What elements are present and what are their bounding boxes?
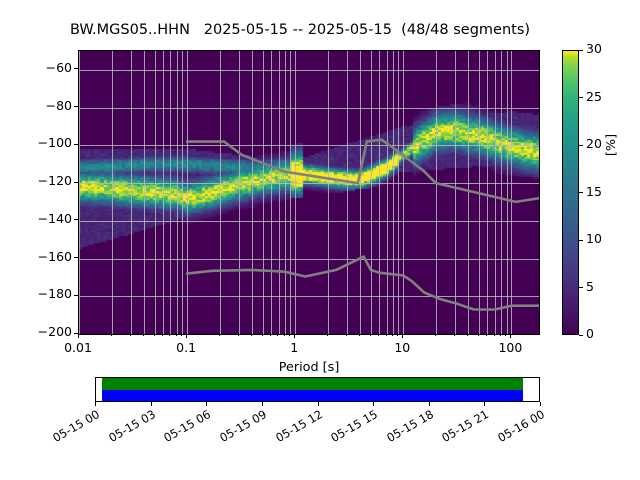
y-axis-tick bbox=[74, 106, 78, 107]
x-axis-minor-tick bbox=[486, 333, 487, 336]
x-axis-minor-tick bbox=[176, 333, 177, 336]
x-axis-minor-tick bbox=[370, 333, 371, 336]
x-axis-minor-tick bbox=[494, 333, 495, 336]
colorbar-tick-label: 5 bbox=[586, 281, 594, 293]
x-axis-minor-tick bbox=[130, 333, 131, 336]
x-axis-minor-tick bbox=[327, 333, 328, 336]
timeline-tick bbox=[318, 402, 319, 406]
x-axis-minor-tick bbox=[169, 333, 170, 336]
x-axis-minor-tick bbox=[454, 333, 455, 336]
page-title: BW.MGS05..HHN 2025-05-15 -- 2025-05-15 (… bbox=[0, 22, 600, 38]
x-axis-minor-tick bbox=[251, 333, 252, 336]
timeline-tick-label: 05-15 09 bbox=[208, 407, 269, 450]
y-axis-tick bbox=[74, 219, 78, 220]
x-axis-minor-tick bbox=[392, 333, 393, 336]
x-axis-minor-tick bbox=[386, 333, 387, 336]
timeline-tick-label: 05-15 21 bbox=[431, 407, 492, 450]
x-axis-minor-tick bbox=[289, 333, 290, 336]
x-axis-tick-label: 10 bbox=[394, 340, 410, 355]
x-axis-tick-label: 0.01 bbox=[64, 340, 92, 355]
x-axis-tick bbox=[402, 333, 403, 338]
x-axis-minor-tick bbox=[219, 333, 220, 336]
colorbar-tick-label: 20 bbox=[586, 138, 602, 150]
x-axis-tick-label: 0.1 bbox=[176, 340, 196, 355]
x-axis-minor-tick bbox=[435, 333, 436, 336]
ppsd-axes bbox=[78, 50, 540, 335]
x-axis-minor-tick bbox=[262, 333, 263, 336]
timeline-tick-label: 05-15 12 bbox=[264, 407, 325, 450]
x-axis-minor-tick bbox=[505, 333, 506, 336]
x-axis-minor-tick bbox=[277, 333, 278, 336]
colorbar-tick-label: 15 bbox=[586, 186, 602, 198]
y-axis-tick-label: −160 bbox=[6, 251, 72, 263]
timeline-tick bbox=[429, 402, 430, 406]
colorbar bbox=[562, 50, 579, 335]
y-axis-tick bbox=[74, 182, 78, 183]
colorbar-tick bbox=[579, 335, 583, 336]
x-axis-tick bbox=[510, 333, 511, 338]
x-axis-label: Period [s] bbox=[78, 360, 540, 375]
x-axis-minor-tick bbox=[346, 333, 347, 336]
x-axis-minor-tick bbox=[270, 333, 271, 336]
x-axis-tick bbox=[294, 333, 295, 338]
timeline-tick-label: 05-15 03 bbox=[97, 407, 158, 450]
x-axis-minor-tick bbox=[143, 333, 144, 336]
x-axis-minor-tick bbox=[154, 333, 155, 336]
x-axis-minor-tick bbox=[378, 333, 379, 336]
coverage-bar-blue bbox=[102, 390, 523, 402]
timeline-tick bbox=[540, 402, 541, 406]
timeline-tick bbox=[484, 402, 485, 406]
x-axis-minor-tick bbox=[467, 333, 468, 336]
y-axis-tick-label: −120 bbox=[6, 175, 72, 187]
colorbar-tick bbox=[579, 50, 583, 51]
nlnm-curve bbox=[187, 257, 539, 310]
colorbar-tick-label: 30 bbox=[586, 43, 602, 55]
timeline-tick bbox=[373, 402, 374, 406]
colorbar-tick bbox=[579, 192, 583, 193]
colorbar-tick bbox=[579, 97, 583, 98]
y-axis-tick bbox=[74, 295, 78, 296]
timeline-tick bbox=[151, 402, 152, 406]
x-axis-minor-tick bbox=[111, 333, 112, 336]
y-axis-tick bbox=[74, 144, 78, 145]
colorbar-tick bbox=[579, 240, 583, 241]
x-axis-tick bbox=[78, 333, 79, 338]
x-axis-tick-label: 1 bbox=[290, 340, 298, 355]
colorbar-label: [%] bbox=[604, 115, 619, 175]
x-axis-minor-tick bbox=[284, 333, 285, 336]
noise-model-curves bbox=[79, 51, 539, 334]
timeline-tick bbox=[206, 402, 207, 406]
colorbar-tick-label: 0 bbox=[586, 328, 594, 340]
y-axis-tick-label: −100 bbox=[6, 137, 72, 149]
timeline-tick-label: 05-15 00 bbox=[41, 407, 102, 450]
colorbar-tick-label: 25 bbox=[586, 91, 602, 103]
timeline-tick-label: 05-15 06 bbox=[153, 407, 214, 450]
x-axis-minor-tick bbox=[162, 333, 163, 336]
x-axis-minor-tick bbox=[500, 333, 501, 336]
x-axis-minor-tick bbox=[238, 333, 239, 336]
x-axis-minor-tick bbox=[359, 333, 360, 336]
coverage-bar-green bbox=[102, 378, 523, 390]
y-axis-tick-label: −180 bbox=[6, 288, 72, 300]
y-axis-tick-label: −60 bbox=[6, 62, 72, 74]
timeline-tick-label: 05-16 00 bbox=[486, 407, 547, 450]
timeline-tick-label: 05-15 18 bbox=[375, 407, 436, 450]
y-axis-tick bbox=[74, 257, 78, 258]
ppsd-figure: BW.MGS05..HHN 2025-05-15 -- 2025-05-15 (… bbox=[0, 0, 640, 480]
x-axis-minor-tick bbox=[397, 333, 398, 336]
colorbar-tick-label: 10 bbox=[586, 233, 602, 245]
y-axis-tick-label: −200 bbox=[6, 326, 72, 338]
coverage-timeline bbox=[95, 377, 540, 402]
colorbar-tick bbox=[579, 145, 583, 146]
y-axis-tick-label: −140 bbox=[6, 213, 72, 225]
y-axis-tick bbox=[74, 68, 78, 69]
timeline-tick bbox=[262, 402, 263, 406]
x-axis-tick bbox=[186, 333, 187, 338]
x-axis-tick-label: 100 bbox=[498, 340, 522, 355]
x-axis-minor-tick bbox=[181, 333, 182, 336]
timeline-tick bbox=[95, 402, 96, 406]
colorbar-tick bbox=[579, 287, 583, 288]
y-axis-tick-label: −80 bbox=[6, 100, 72, 112]
x-axis-minor-tick bbox=[478, 333, 479, 336]
timeline-tick-label: 05-15 15 bbox=[319, 407, 380, 450]
nhnm-curve bbox=[187, 140, 539, 202]
